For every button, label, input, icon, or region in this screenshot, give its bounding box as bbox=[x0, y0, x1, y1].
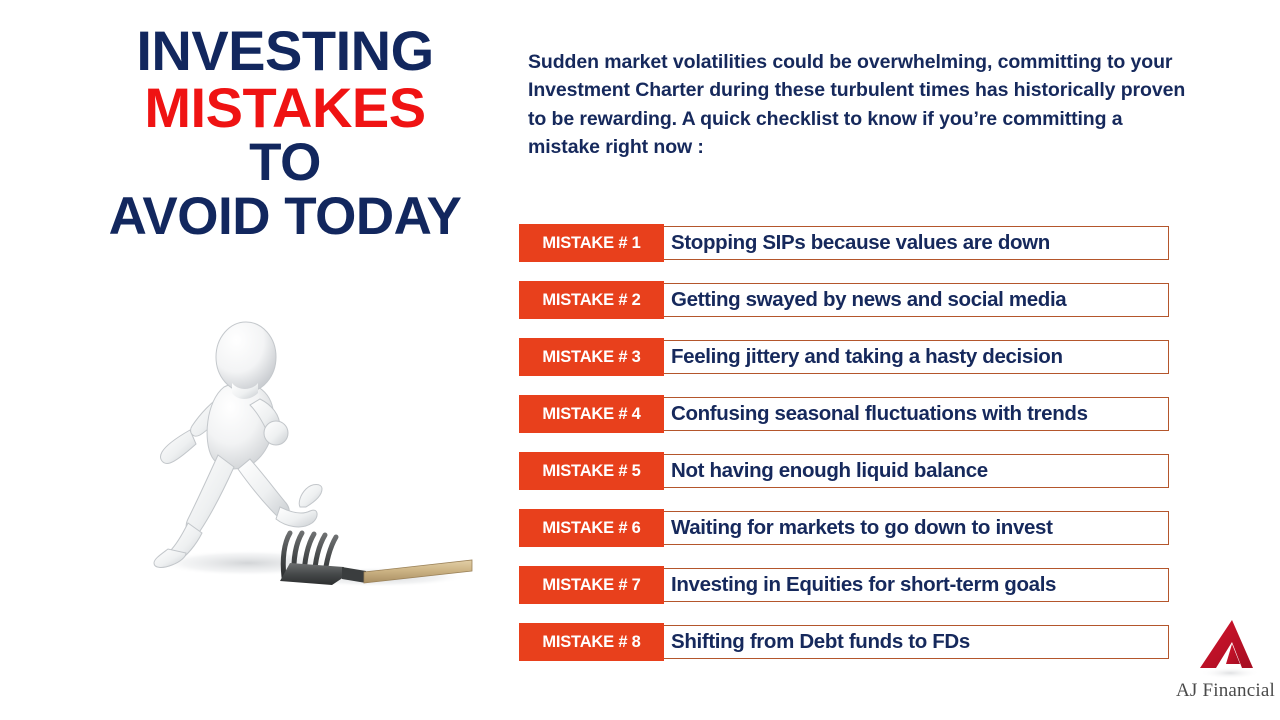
intro-paragraph: Sudden market volatilities could be over… bbox=[528, 48, 1188, 162]
mistake-badge: MISTAKE # 5 bbox=[519, 452, 664, 490]
mistake-text: Investing in Equities for short-term goa… bbox=[671, 568, 1163, 602]
logo-text: AJ Financial bbox=[1176, 680, 1280, 702]
mistake-text: Getting swayed by news and social media bbox=[671, 283, 1163, 317]
mistake-row[interactable]: MISTAKE # 6 Waiting for markets to go do… bbox=[519, 509, 1169, 547]
mistake-list: MISTAKE # 1 Stopping SIPs because values… bbox=[519, 224, 1169, 661]
mistake-text: Shifting from Debt funds to FDs bbox=[671, 625, 1163, 659]
mistake-row[interactable]: MISTAKE # 2 Getting swayed by news and s… bbox=[519, 281, 1169, 319]
mistake-text: Not having enough liquid balance bbox=[671, 454, 1163, 488]
page-title: INVESTING MISTAKES TO AVOID TODAY bbox=[40, 22, 530, 244]
title-line-avoid-today: AVOID TODAY bbox=[40, 190, 530, 244]
mistake-badge: MISTAKE # 8 bbox=[519, 623, 664, 661]
red-triangle-arrow-icon bbox=[1192, 618, 1264, 680]
title-line-investing: INVESTING bbox=[40, 22, 530, 79]
mistake-row[interactable]: MISTAKE # 8 Shifting from Debt funds to … bbox=[519, 623, 1169, 661]
mistake-row[interactable]: MISTAKE # 3 Feeling jittery and taking a… bbox=[519, 338, 1169, 376]
mistake-badge: MISTAKE # 7 bbox=[519, 566, 664, 604]
logo[interactable]: AJ Financial bbox=[1176, 618, 1280, 713]
mistake-row[interactable]: MISTAKE # 1 Stopping SIPs because values… bbox=[519, 224, 1169, 262]
mistake-badge: MISTAKE # 6 bbox=[519, 509, 664, 547]
mistake-badge: MISTAKE # 1 bbox=[519, 224, 664, 262]
slide-canvas: INVESTING MISTAKES TO AVOID TODAY bbox=[0, 0, 1280, 720]
figure-head bbox=[216, 322, 276, 392]
mistake-text: Feeling jittery and taking a hasty decis… bbox=[671, 340, 1163, 374]
white-3d-mannequin-running-icon bbox=[154, 322, 322, 567]
mistake-text: Waiting for markets to go down to invest bbox=[671, 511, 1163, 545]
title-line-mistakes: MISTAKES bbox=[40, 79, 530, 136]
mistake-row[interactable]: MISTAKE # 4 Confusing seasonal fluctuati… bbox=[519, 395, 1169, 433]
mistake-badge: MISTAKE # 3 bbox=[519, 338, 664, 376]
mistake-row[interactable]: MISTAKE # 5 Not having enough liquid bal… bbox=[519, 452, 1169, 490]
mistake-text: Stopping SIPs because values are down bbox=[671, 226, 1163, 260]
mistake-badge: MISTAKE # 2 bbox=[519, 281, 664, 319]
title-line-to: TO bbox=[40, 136, 530, 190]
mistake-row[interactable]: MISTAKE # 7 Investing in Equities for sh… bbox=[519, 566, 1169, 604]
running-figure-toward-rake-icon bbox=[120, 295, 520, 605]
mistake-text: Confusing seasonal fluctuations with tre… bbox=[671, 397, 1163, 431]
mistake-badge: MISTAKE # 4 bbox=[519, 395, 664, 433]
